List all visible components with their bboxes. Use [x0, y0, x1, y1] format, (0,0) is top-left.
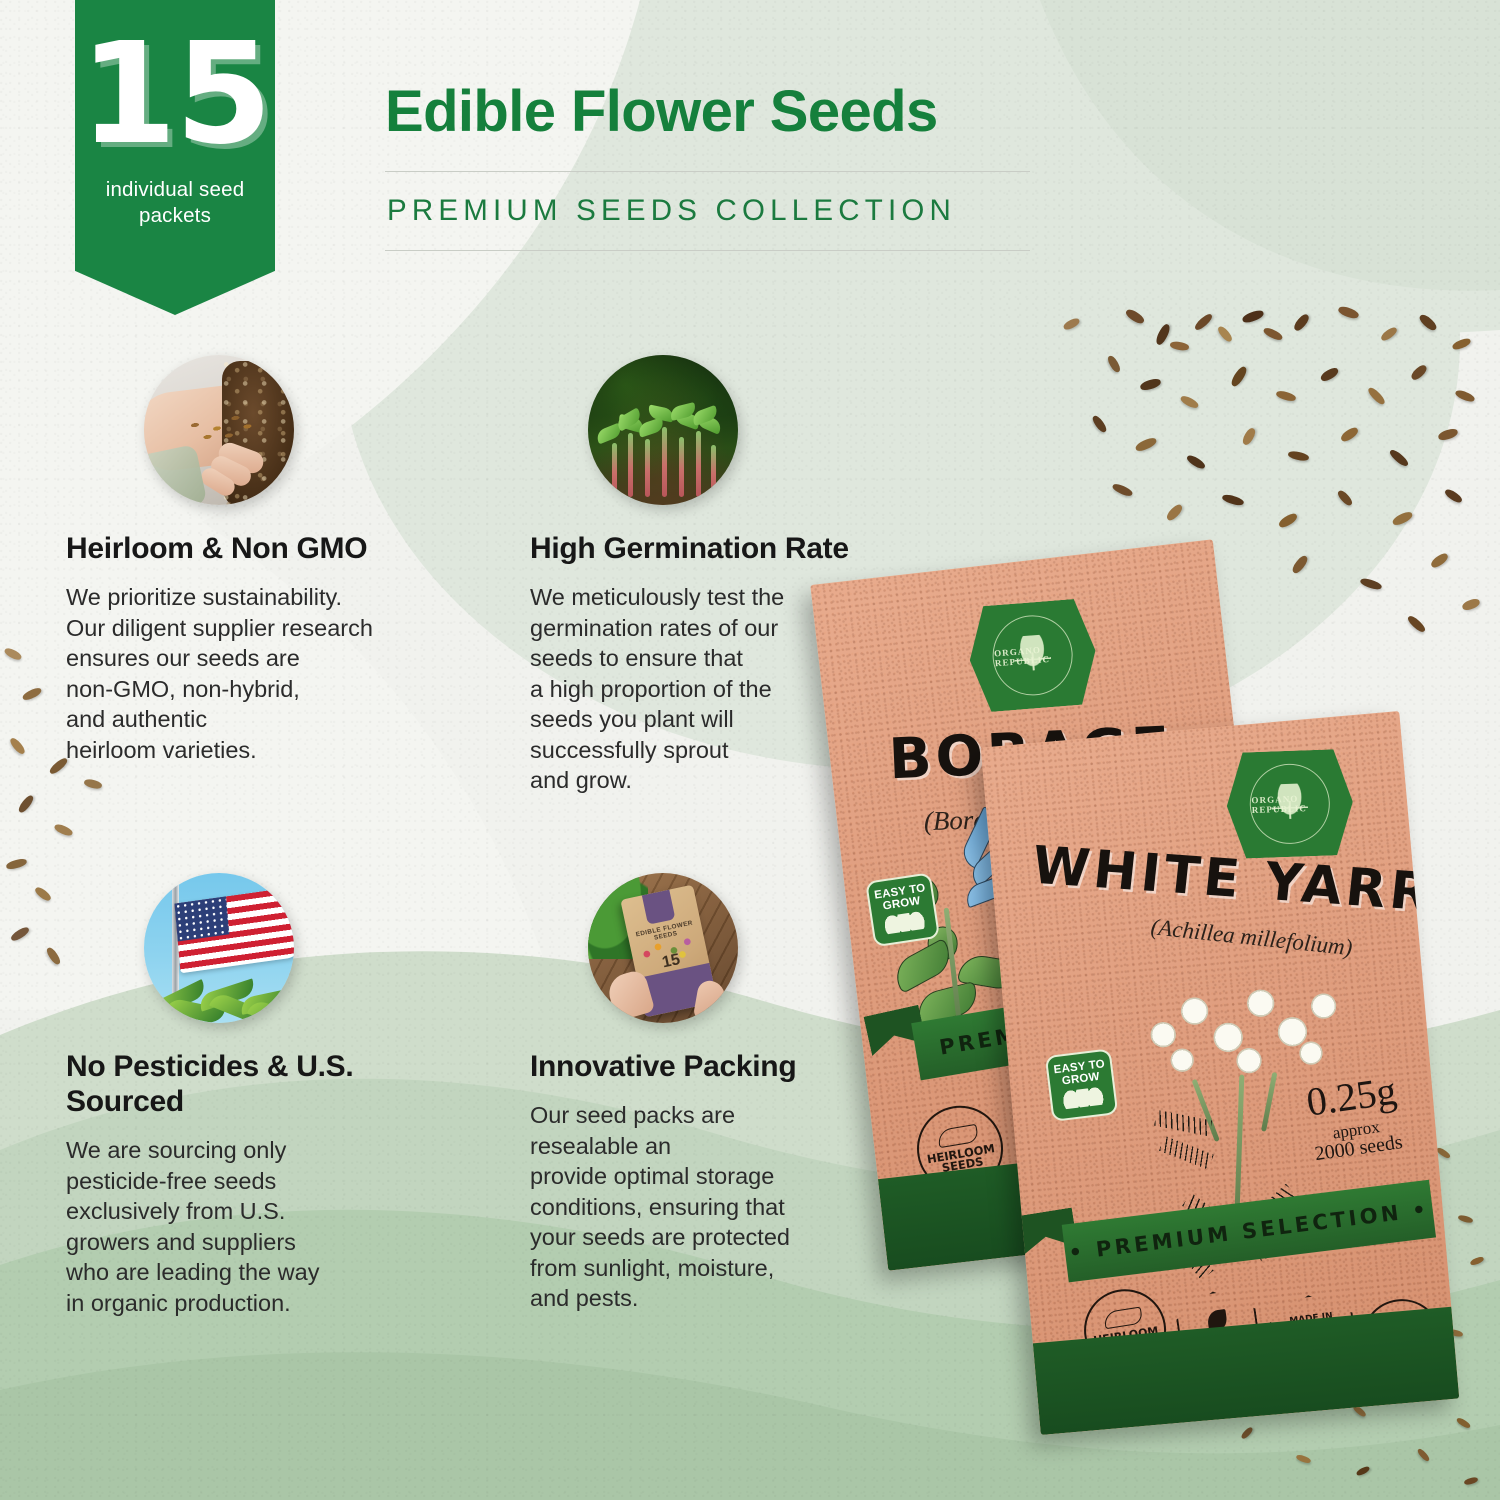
easy-to-grow-badge-white-yarrow: EASY TO GROW [1045, 1048, 1119, 1122]
feature-title: No Pesticides & U.S. Sourced [66, 1049, 442, 1119]
packet-white-yarrow[interactable]: ORGANO REPUBLIC WHITE YARROW (Achillea m… [981, 711, 1460, 1435]
packet-weight-white-yarrow: 0.25g approx 2000 seeds [1285, 1068, 1423, 1168]
brand-name: ORGANO REPUBLIC [992, 614, 1074, 696]
infographic-canvas: 15 individual seed packets Edible Flower… [0, 0, 1500, 1500]
brand-name: ORGANO REPUBLIC [1250, 764, 1329, 843]
page-subtitle: PREMIUM SEEDS COLLECTION [385, 172, 1105, 250]
header-divider-bottom [385, 250, 1030, 251]
seed-pouch-in-hand-photo-icon: EDIBLE FLOWER SEEDS 15 [588, 873, 738, 1023]
feature-body: We are sourcing only pesticide-free seed… [66, 1135, 442, 1318]
feature-title: Heirloom & Non GMO [66, 531, 442, 566]
feature-heirloom-non-gmo: Heirloom & Non GMO We prioritize sustain… [62, 355, 442, 765]
feature-high-germination-rate: High Germination Rate We meticulously te… [530, 355, 910, 796]
feature-innovative-packing: EDIBLE FLOWER SEEDS 15 Innovative Packin… [530, 873, 910, 1314]
ribbon-caption: individual seed packets [75, 177, 275, 229]
usa-flag-photo-icon [144, 873, 294, 1023]
feature-title: Innovative Packing [530, 1049, 910, 1084]
brand-logo-borage: ORGANO REPUBLIC [966, 598, 1100, 714]
feature-body: We prioritize sustainability. Our dilige… [66, 582, 442, 765]
feature-no-pesticides-us-sourced: No Pesticides & U.S. Sourced We are sour… [62, 873, 442, 1318]
feature-body: Our seed packs are resealable an provide… [530, 1100, 910, 1314]
brand-logo-white-yarrow: ORGANO REPUBLIC [1225, 749, 1355, 859]
hand-holding-seeds-photo-icon [144, 355, 294, 505]
header: Edible Flower Seeds PREMIUM SEEDS COLLEC… [385, 82, 1105, 251]
feature-body: We meticulously test the germination rat… [530, 582, 910, 796]
seedlings-sprouting-photo-icon [588, 355, 738, 505]
feature-title: High Germination Rate [530, 531, 910, 566]
page-title: Edible Flower Seeds [385, 82, 1105, 143]
seed-packet-count-ribbon: 15 individual seed packets [75, 0, 275, 315]
ribbon-count-value: 15 [75, 28, 275, 161]
